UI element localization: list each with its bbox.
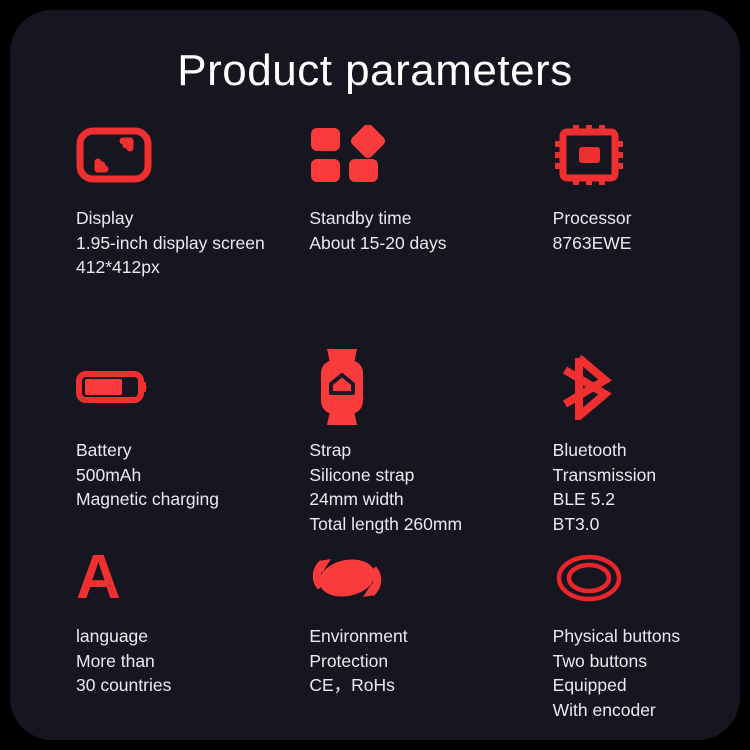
spec-text-block: Processor 8763EWE — [553, 206, 740, 255]
spec-line: About 15-20 days — [309, 231, 496, 256]
spec-text-block: Strap Silicone strap 24mm width Total le… — [309, 438, 496, 536]
spec-item-strap: Strap Silicone strap 24mm width Total le… — [253, 346, 496, 546]
spec-line: Total length 260mm — [309, 512, 496, 537]
product-parameters-card: Product parameters Disp — [10, 10, 740, 740]
spec-row: A language More than 30 countries — [10, 546, 740, 716]
spec-text-block: Environment Protection CE，RoHs — [309, 624, 496, 698]
spec-item-bluetooth: Bluetooth Transmission BLE 5.2 BT3.0 — [497, 346, 740, 546]
display-screen-icon — [76, 118, 253, 192]
spec-item-standby-time: Standby time About 15-20 days — [253, 118, 496, 346]
physical-buttons-ring-icon-svg — [553, 550, 629, 606]
page-root: Product parameters Disp — [0, 0, 750, 750]
page-title: Product parameters — [10, 46, 740, 96]
recycle-environment-icon-svg — [309, 549, 385, 607]
spec-row: Display 1.95-inch display screen 412*412… — [10, 118, 740, 346]
smartwatch-strap-icon — [309, 346, 496, 428]
recycle-environment-icon — [309, 546, 496, 610]
spec-text-block: language More than 30 countries — [76, 624, 253, 698]
smartwatch-strap-icon-svg — [309, 347, 385, 427]
spec-line: CE，RoHs — [309, 673, 496, 698]
spec-item-language: A language More than 30 countries — [10, 546, 253, 716]
spec-line: 412*412px — [76, 255, 253, 280]
spec-item-display: Display 1.95-inch display screen 412*412… — [10, 118, 253, 346]
letter-a-glyph: A — [76, 549, 121, 607]
bluetooth-icon — [553, 346, 740, 428]
spec-line: Silicone strap — [309, 463, 496, 488]
spec-text-block: Bluetooth Transmission BLE 5.2 BT3.0 — [553, 438, 740, 536]
spec-line: Magnetic charging — [76, 487, 253, 512]
spec-line: Environment — [309, 624, 496, 649]
spec-line: Battery — [76, 438, 253, 463]
spec-line: Display — [76, 206, 253, 231]
spec-line: Bluetooth — [553, 438, 740, 463]
spec-text-block: Standby time About 15-20 days — [309, 206, 496, 255]
bluetooth-icon-svg — [553, 354, 623, 420]
spec-line: language — [76, 624, 253, 649]
spec-line: 30 countries — [76, 673, 253, 698]
spec-line: With encoder — [553, 698, 740, 723]
spec-row: Battery 500mAh Magnetic charging — [10, 346, 740, 546]
spec-grid: Display 1.95-inch display screen 412*412… — [10, 118, 740, 716]
processor-chip-icon-svg — [553, 124, 629, 186]
spec-line: Physical buttons — [553, 624, 740, 649]
spec-item-physical-buttons: Physical buttons Two buttons Equipped Wi… — [497, 546, 740, 716]
letter-a-language-icon: A — [76, 546, 253, 610]
spec-line: Strap — [309, 438, 496, 463]
spec-line: 500mAh — [76, 463, 253, 488]
spec-line: BT3.0 — [553, 512, 740, 537]
standby-blocks-icon — [309, 118, 496, 192]
spec-line: Two buttons — [553, 649, 740, 674]
spec-line: Standby time — [309, 206, 496, 231]
display-screen-icon-svg — [76, 127, 152, 183]
spec-line: More than — [76, 649, 253, 674]
battery-icon — [76, 346, 253, 428]
spec-line: 1.95-inch display screen — [76, 231, 253, 256]
spec-line: BLE 5.2 — [553, 487, 740, 512]
spec-item-battery: Battery 500mAh Magnetic charging — [10, 346, 253, 546]
spec-line: 8763EWE — [553, 231, 740, 256]
spec-item-environment-protection: Environment Protection CE，RoHs — [253, 546, 496, 716]
battery-icon-svg — [76, 366, 154, 408]
spec-text-block: Physical buttons Two buttons Equipped Wi… — [553, 624, 740, 722]
standby-blocks-icon-svg — [309, 125, 385, 185]
processor-chip-icon — [553, 118, 740, 192]
physical-buttons-ring-icon — [553, 546, 740, 610]
spec-item-processor: Processor 8763EWE — [497, 118, 740, 346]
spec-text-block: Battery 500mAh Magnetic charging — [76, 438, 253, 512]
spec-line: Protection — [309, 649, 496, 674]
spec-line: Processor — [553, 206, 740, 231]
spec-text-block: Display 1.95-inch display screen 412*412… — [76, 206, 253, 280]
spec-line: Equipped — [553, 673, 740, 698]
spec-line: 24mm width — [309, 487, 496, 512]
spec-line: Transmission — [553, 463, 740, 488]
